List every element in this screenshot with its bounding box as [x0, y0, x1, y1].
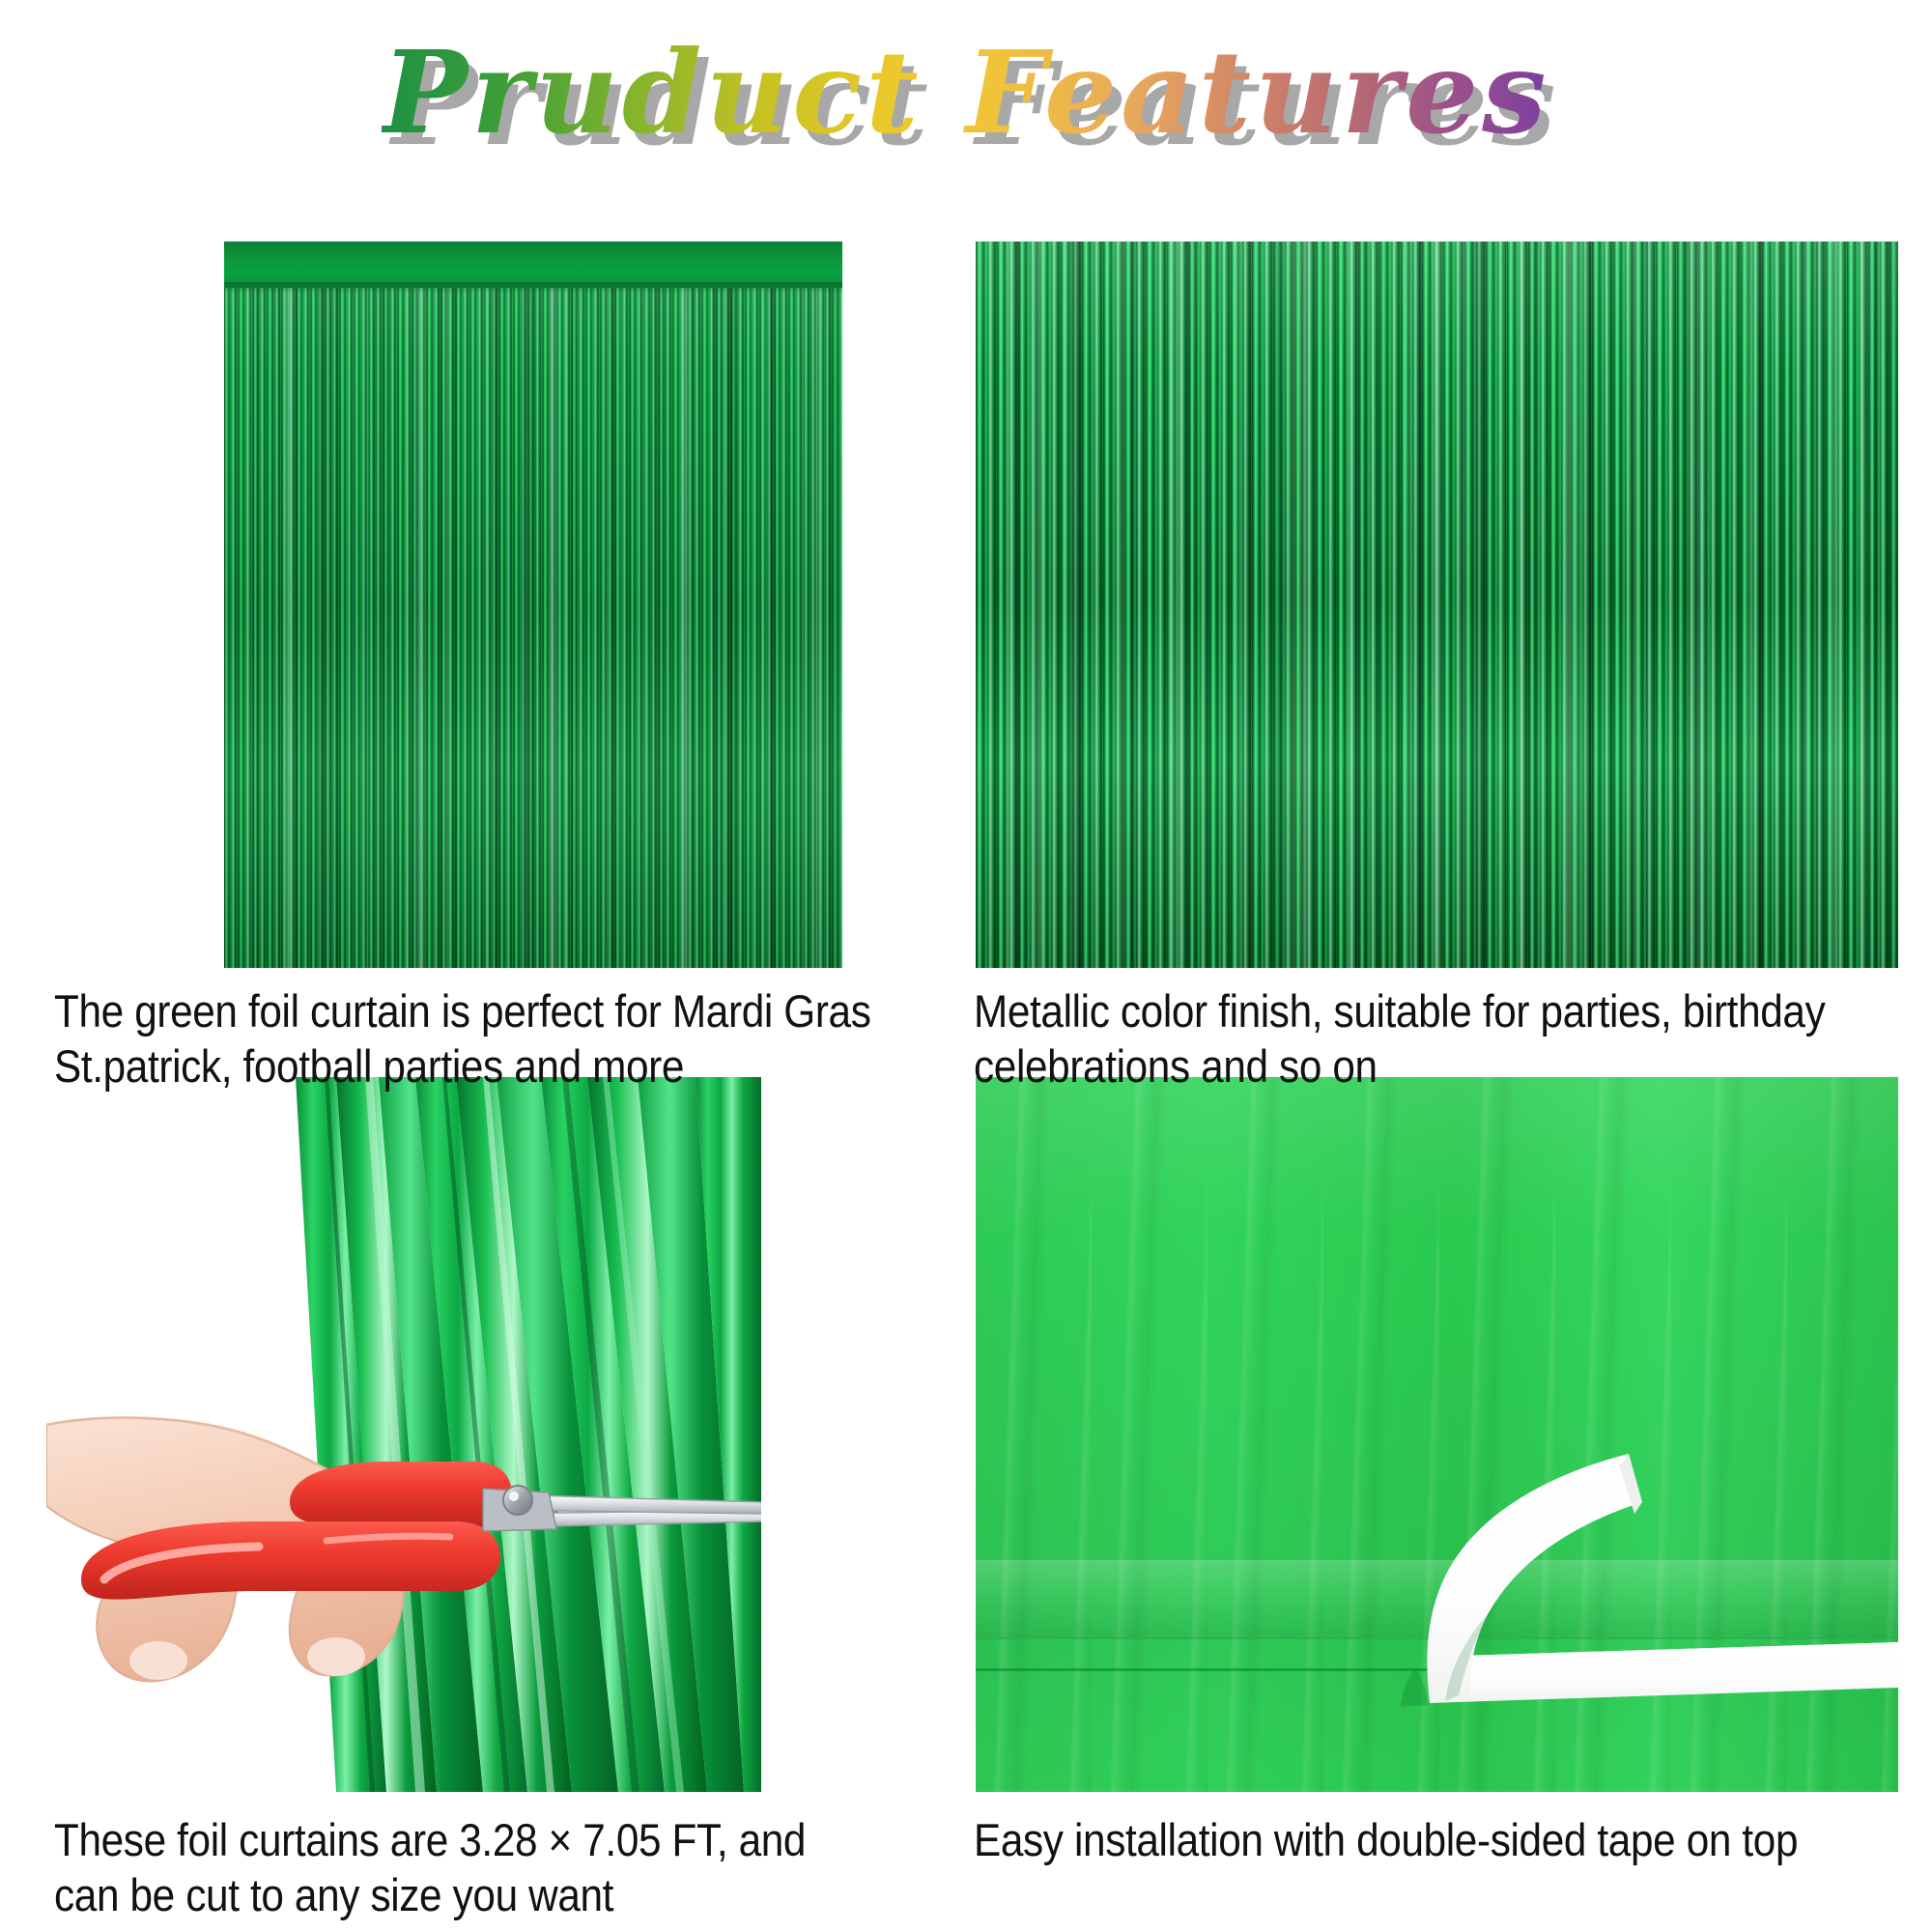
curtain-vertical-shading — [224, 241, 842, 968]
curtain-graphic — [224, 241, 842, 968]
green-foil-curtain-fringe-photo — [224, 241, 842, 968]
page-title-text: Pruduct Features — [382, 25, 1549, 159]
feature-cell-metallic-finish — [976, 241, 1898, 1053]
green-foil-curtain-closeup-photo — [976, 241, 1898, 968]
caption-metallic-finish: Metallic color finish, suitable for part… — [974, 983, 1932, 1094]
double-sided-tape-illustration — [976, 1077, 1898, 1792]
tape-scene — [976, 1077, 1898, 1792]
feature-cell-cuttable-size — [46, 1077, 761, 1898]
feature-cell-mardi-gras — [46, 241, 761, 1053]
foil-strands-group — [296, 1077, 761, 1792]
caption-easy-install: Easy installation with double-sided tape… — [974, 1812, 1932, 1867]
caption-mardi-gras: The green foil curtain is perfect for Ma… — [54, 983, 923, 1094]
curtain-graphic — [976, 241, 1898, 968]
curtain-header-band — [224, 241, 842, 288]
curtain-vertical-shading — [976, 241, 1898, 968]
cutting-scene-illustration — [46, 1077, 761, 1792]
page-title: Pruduct Features Pruduct Features — [382, 35, 1549, 151]
hand-cutting-foil-with-scissors-photo — [46, 1077, 761, 1792]
feature-grid — [0, 0, 1932, 1932]
scissors-pivot — [483, 1486, 556, 1531]
double-sided-tape-on-curtain-top-photo — [976, 1077, 1898, 1792]
caption-cuttable-size: These foil curtains are 3.28 × 7.05 FT, … — [54, 1812, 923, 1922]
feature-cell-easy-install — [976, 1077, 1898, 1898]
